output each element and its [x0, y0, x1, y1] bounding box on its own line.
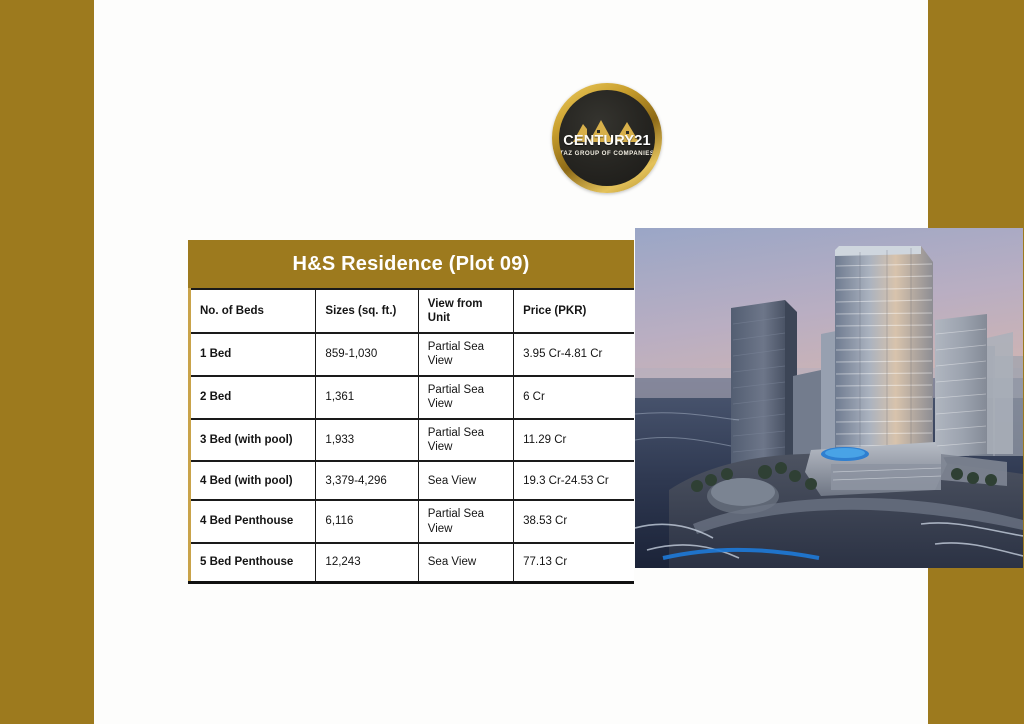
cell-size: 3,379-4,296 — [316, 461, 418, 500]
cell-beds: 1 Bed — [190, 333, 316, 376]
unit-specification-table: No. of Beds Sizes (sq. ft.) View from Un… — [188, 288, 634, 584]
column-header-view: View from Unit — [418, 289, 513, 333]
cell-view: Partial Sea View — [418, 419, 513, 462]
document-frame: CENTURY21 TAZ GROUP OF COMPANIES H&S Res… — [0, 0, 1024, 724]
logo-word-21: 21 — [634, 133, 651, 149]
cell-beds: 2 Bed — [190, 376, 316, 419]
cell-price: 11.29 Cr — [514, 419, 634, 462]
logo-dark-disc: CENTURY21 TAZ GROUP OF COMPANIES — [559, 90, 655, 186]
cell-price: 38.53 Cr — [514, 500, 634, 543]
cell-size: 12,243 — [316, 543, 418, 582]
table-row: 1 Bed 859-1,030 Partial Sea View 3.95 Cr… — [190, 333, 635, 376]
century21-taz-logo: CENTURY21 TAZ GROUP OF COMPANIES — [552, 83, 662, 193]
cell-price: 3.95 Cr-4.81 Cr — [514, 333, 634, 376]
column-header-sizes: Sizes (sq. ft.) — [316, 289, 418, 333]
cell-price: 6 Cr — [514, 376, 634, 419]
table-row: 4 Bed (with pool) 3,379-4,296 Sea View 1… — [190, 461, 635, 500]
table-header-row: No. of Beds Sizes (sq. ft.) View from Un… — [190, 289, 635, 333]
cell-beds: 4 Bed (with pool) — [190, 461, 316, 500]
render-illustration — [635, 228, 1023, 568]
waterfront-tower-render — [635, 228, 1023, 568]
table-row: 5 Bed Penthouse 12,243 Sea View 77.13 Cr — [190, 543, 635, 582]
document-page: CENTURY21 TAZ GROUP OF COMPANIES H&S Res… — [94, 0, 928, 724]
cell-view: Partial Sea View — [418, 500, 513, 543]
logo-tagline: TAZ GROUP OF COMPANIES — [559, 151, 655, 157]
logo-word-century: CENTURY — [563, 133, 634, 149]
table-row: 2 Bed 1,361 Partial Sea View 6 Cr — [190, 376, 635, 419]
cell-size: 1,361 — [316, 376, 418, 419]
cell-size: 859-1,030 — [316, 333, 418, 376]
table-row: 3 Bed (with pool) 1,933 Partial Sea View… — [190, 419, 635, 462]
column-header-price: Price (PKR) — [514, 289, 634, 333]
cell-size: 1,933 — [316, 419, 418, 462]
column-header-beds: No. of Beds — [190, 289, 316, 333]
cell-price: 77.13 Cr — [514, 543, 634, 582]
cell-view: Partial Sea View — [418, 376, 513, 419]
table-row: 4 Bed Penthouse 6,116 Partial Sea View 3… — [190, 500, 635, 543]
cell-size: 6,116 — [316, 500, 418, 543]
cell-price: 19.3 Cr-24.53 Cr — [514, 461, 634, 500]
cell-beds: 3 Bed (with pool) — [190, 419, 316, 462]
cell-beds: 4 Bed Penthouse — [190, 500, 316, 543]
cell-view: Partial Sea View — [418, 333, 513, 376]
logo-wordmark: CENTURY21 — [559, 134, 655, 149]
project-title-bar: H&S Residence (Plot 09) — [188, 240, 634, 288]
cell-beds: 5 Bed Penthouse — [190, 543, 316, 582]
cell-view: Sea View — [418, 461, 513, 500]
page-title: H&S Residence (Plot 09) — [293, 253, 530, 276]
cell-view: Sea View — [418, 543, 513, 582]
